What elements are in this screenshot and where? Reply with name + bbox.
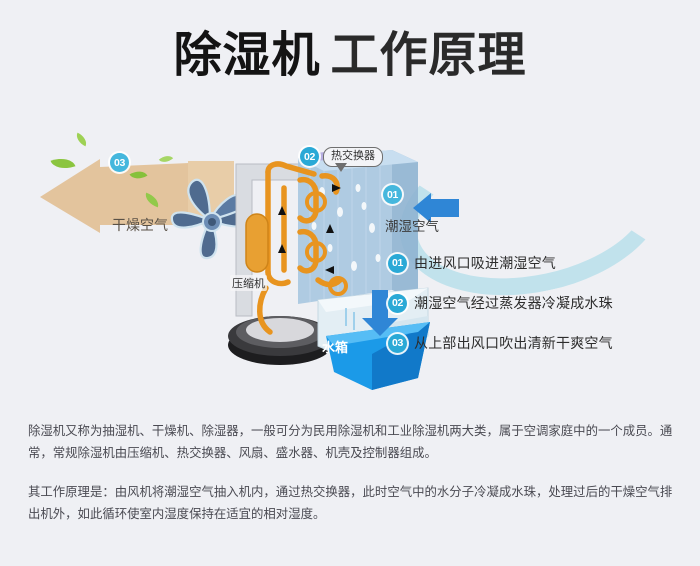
step-text: 从上部出风口吹出清新干爽空气 <box>414 333 613 353</box>
compressor-label: 压缩机 <box>230 275 267 291</box>
description-block: 除湿机又称为抽湿机、干燥机、除湿器，一般可分为民用除湿机和工业除湿机两大类，属于… <box>28 420 676 525</box>
leaf-icon <box>74 133 90 147</box>
humid-air-badge-wrap: 01 <box>383 185 402 204</box>
humid-air-badge: 01 <box>383 185 402 204</box>
step-badge: 02 <box>388 294 407 313</box>
step-badge: 01 <box>388 254 407 273</box>
list-item: 03 从上部出风口吹出清新干爽空气 <box>388 333 688 353</box>
dry-air-label: 干燥空气 <box>112 215 168 235</box>
page-title-part2: 工作原理 <box>331 29 527 82</box>
humid-air-label: 潮湿空气 <box>385 215 439 235</box>
callout-label: 热交换器 <box>323 147 383 167</box>
dry-air-badge: 03 <box>110 153 129 172</box>
callout-pointer <box>336 164 346 172</box>
steps-list: 01 由进风口吸进潮湿空气 02 潮湿空气经过蒸发器冷凝成水珠 03 从上部出风… <box>388 253 688 373</box>
page-title-part1: 除湿机 <box>173 29 320 82</box>
page-title: 除湿机工作原理 <box>0 28 700 83</box>
step-text: 潮湿空气经过蒸发器冷凝成水珠 <box>414 293 613 313</box>
dry-air-badge-wrap: 03 <box>110 153 129 172</box>
step-badge: 03 <box>388 334 407 353</box>
list-item: 01 由进风口吸进潮湿空气 <box>388 253 688 273</box>
callout-badge: 02 <box>300 147 319 166</box>
list-item: 02 潮湿空气经过蒸发器冷凝成水珠 <box>388 293 688 313</box>
water-tank-label: 水箱 <box>322 337 348 356</box>
description-paragraph-2: 其工作原理是：由风机将潮湿空气抽入机内，通过热交换器，此时空气中的水分子冷凝成水… <box>28 481 676 525</box>
description-paragraph-1: 除湿机又称为抽湿机、干燥机、除湿器，一般可分为民用除湿机和工业除湿机两大类，属于… <box>28 420 676 464</box>
dehumidifier-infographic: 除湿机工作原理 <box>0 0 700 566</box>
step-text: 由进风口吸进潮湿空气 <box>414 253 556 273</box>
